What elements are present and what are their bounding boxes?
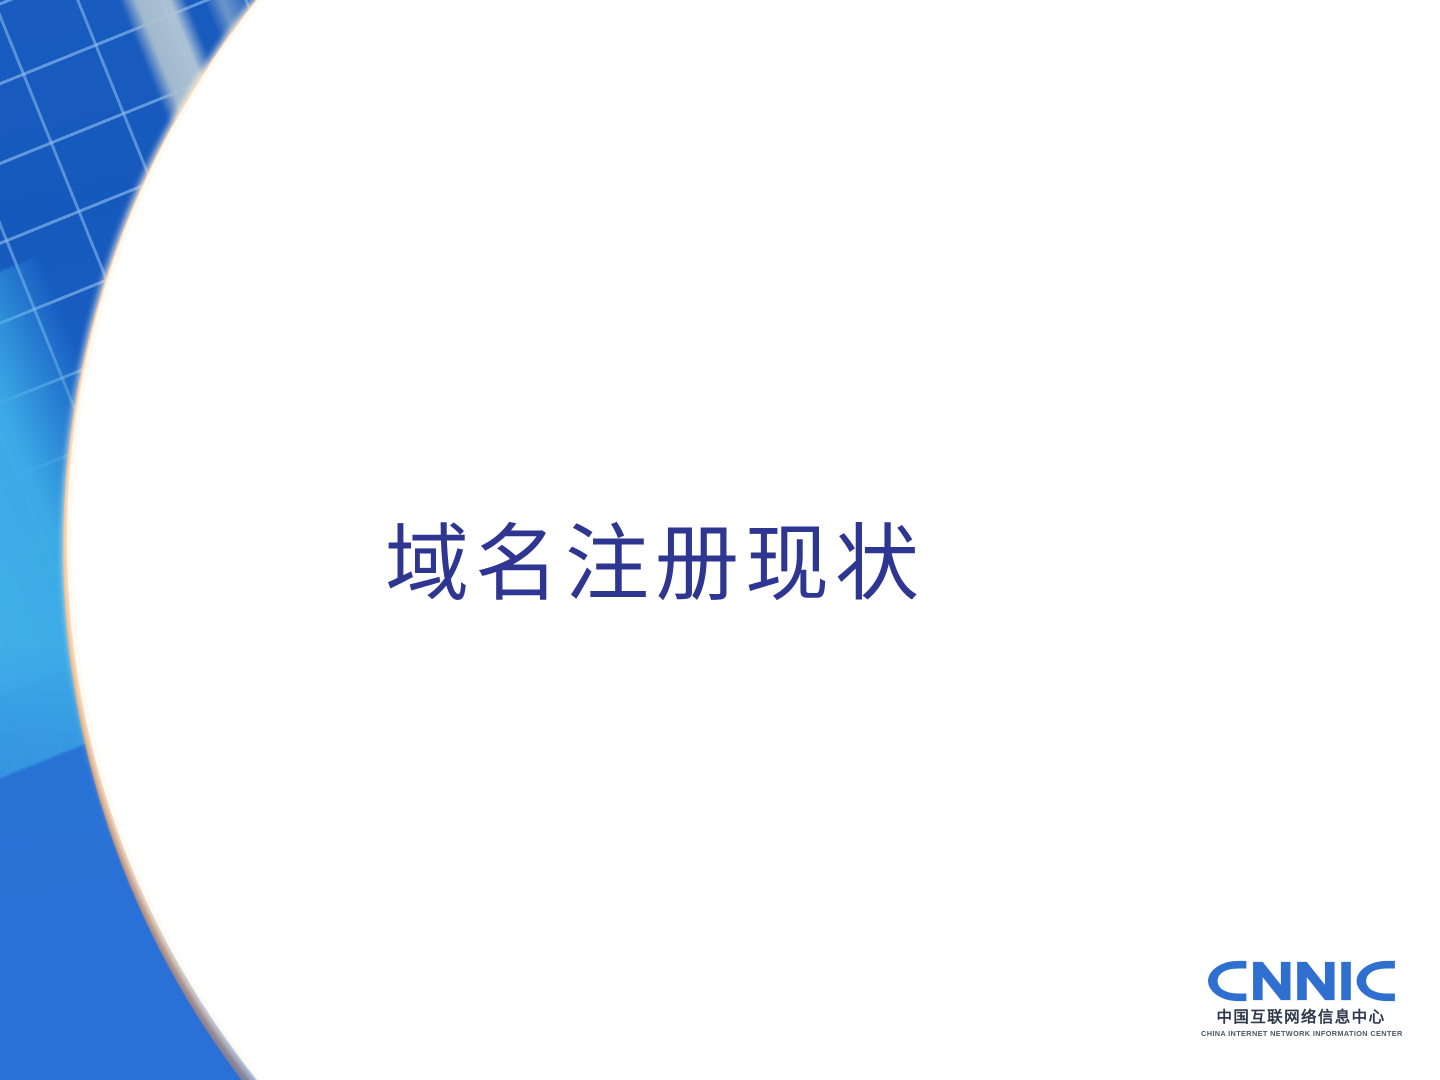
grid-mesh-pattern [0, 0, 420, 1046]
cyan-diagonal-band-secondary [0, 375, 105, 766]
navy-diagonal-band [186, 0, 408, 218]
pale-diagonal-band-secondary [141, 0, 333, 214]
page-title: 域名注册现状 [385, 518, 925, 610]
pale-diagonal-band [66, 0, 296, 295]
slide-canvas: 域名注册现状 中国互联网络信息中心 CHINA INTERNET NETWORK… [0, 0, 1440, 1080]
blue-gradient-field [0, 0, 420, 1080]
logo-english-name: CHINA INTERNET NETWORK INFORMATION CENTE… [1201, 1029, 1401, 1038]
decorative-graphic [0, 0, 420, 1080]
orange-accent-arc [63, 0, 420, 1080]
cyan-diagonal-band [0, 255, 216, 814]
logo-chinese-name: 中国互联网络信息中心 [1203, 1005, 1399, 1027]
cnnic-wordmark-icon [1203, 958, 1399, 1004]
white-curve-mask [72, 0, 420, 1080]
bottom-blue-wash [0, 640, 420, 1080]
cnnic-logo: 中国互联网络信息中心 CHINA INTERNET NETWORK INFORM… [1203, 958, 1399, 1038]
